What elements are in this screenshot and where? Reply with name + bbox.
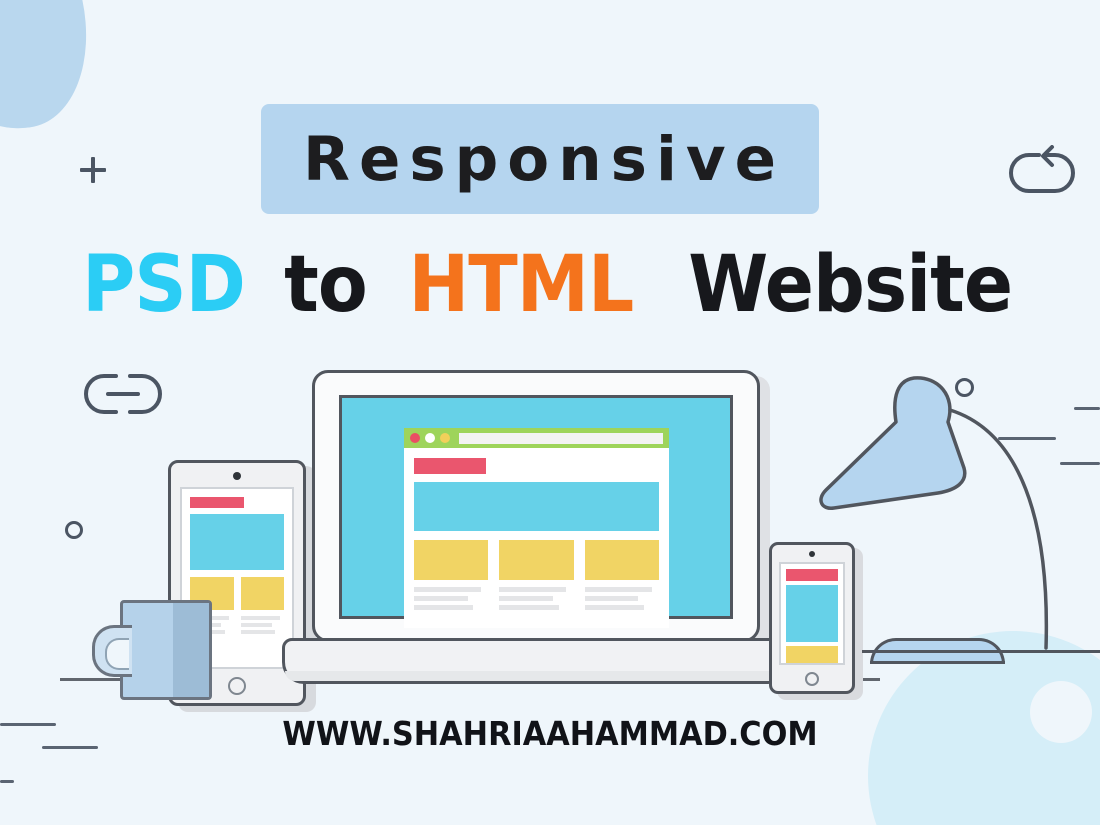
desk-line-right bbox=[862, 650, 1100, 653]
text-line bbox=[241, 616, 280, 620]
browser-window bbox=[404, 428, 669, 628]
text-line bbox=[499, 596, 553, 601]
text-line bbox=[414, 587, 481, 592]
mug-handle bbox=[92, 625, 132, 677]
page-heading-block bbox=[414, 458, 486, 474]
decor-blob-top-left bbox=[0, 0, 106, 145]
text-line bbox=[414, 605, 473, 610]
laptop-device bbox=[312, 370, 760, 642]
lamp-base-line bbox=[870, 661, 1005, 664]
page-hero-block bbox=[414, 482, 659, 531]
text-line bbox=[414, 596, 468, 601]
text-line bbox=[585, 605, 644, 610]
tablet-card bbox=[241, 577, 285, 610]
mug-shade bbox=[173, 603, 209, 697]
page-card bbox=[499, 540, 573, 580]
banner-canvas: Responsive PSD to HTML Website bbox=[0, 0, 1100, 825]
plus-icon bbox=[80, 157, 106, 183]
tablet-text-column bbox=[241, 616, 285, 637]
text-line bbox=[499, 587, 566, 592]
headline-html: HTML bbox=[408, 246, 633, 324]
text-line bbox=[585, 596, 639, 601]
page-card-row bbox=[414, 540, 659, 580]
tablet-camera bbox=[233, 472, 241, 480]
badge-label: Responsive bbox=[295, 129, 785, 190]
page-card bbox=[414, 540, 488, 580]
mug-handle-inner bbox=[105, 638, 129, 670]
coffee-mug bbox=[120, 600, 212, 700]
headline-psd: PSD bbox=[82, 246, 245, 324]
laptop-base bbox=[282, 638, 790, 684]
minimize-dot-icon[interactable] bbox=[425, 433, 435, 443]
page-title: PSD to HTML Website bbox=[0, 246, 1100, 324]
text-line bbox=[241, 623, 272, 627]
page-text-column bbox=[585, 587, 659, 614]
tablet-hero-block bbox=[190, 514, 284, 570]
close-dot-icon[interactable] bbox=[410, 433, 420, 443]
page-card bbox=[585, 540, 659, 580]
website-url: WWW.SHAHRIAAHAMMAD.COM bbox=[44, 714, 1056, 753]
maximize-dot-icon[interactable] bbox=[440, 433, 450, 443]
tablet-home-button[interactable] bbox=[228, 677, 246, 695]
decor-line bbox=[0, 780, 14, 783]
address-bar[interactable] bbox=[459, 433, 663, 444]
laptop-base-edge bbox=[285, 671, 787, 681]
refresh-arrow-icon bbox=[1005, 145, 1077, 201]
page-text-column bbox=[499, 587, 573, 614]
headline-website: Website bbox=[688, 246, 1012, 324]
page-text-column bbox=[414, 587, 488, 614]
devices-illustration bbox=[0, 360, 1100, 720]
page-text-rows bbox=[414, 587, 659, 614]
text-line bbox=[499, 605, 558, 610]
browser-titlebar bbox=[404, 428, 669, 448]
laptop-screen bbox=[339, 395, 733, 619]
browser-content bbox=[404, 448, 669, 624]
tablet-heading-block bbox=[190, 497, 244, 508]
responsive-badge: Responsive bbox=[261, 104, 819, 214]
text-line bbox=[585, 587, 652, 592]
text-line bbox=[241, 630, 276, 634]
headline-to: to bbox=[284, 246, 367, 324]
